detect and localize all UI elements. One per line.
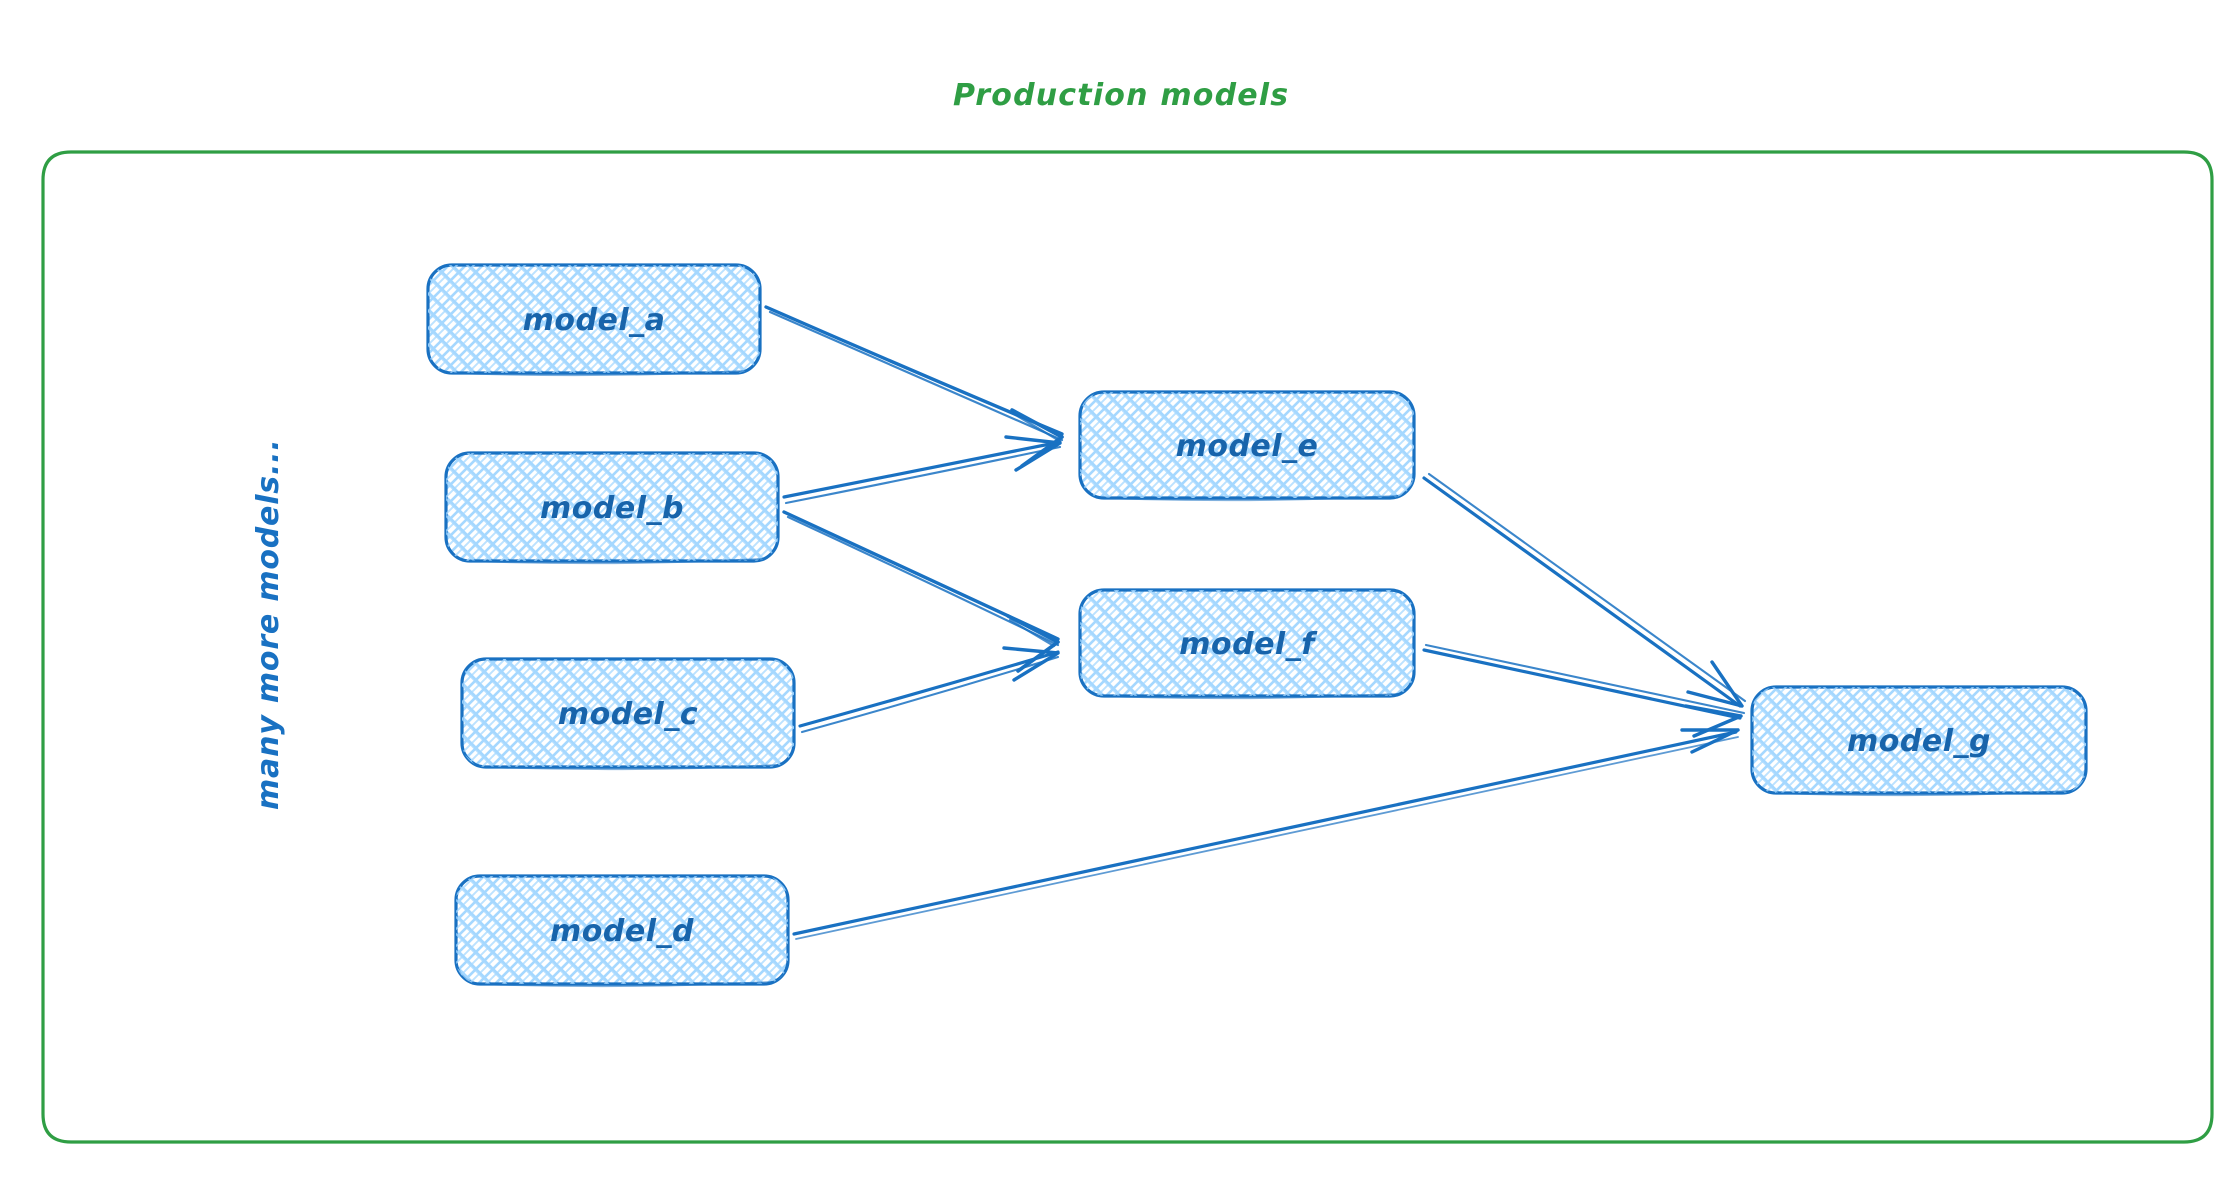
edge-model-e-to-model-g (1424, 474, 1745, 706)
edge-model-f-to-model-g (1424, 645, 1744, 736)
node-model-d-label: model_d (550, 914, 694, 949)
frame-title: Production models (953, 78, 1289, 113)
node-model-e[interactable]: model_e (1080, 392, 1414, 500)
nodes-group: model_a model_b model_c model (428, 265, 2086, 986)
node-model-f-label: model_f (1179, 627, 1318, 662)
edge-model-a-to-model-e (766, 307, 1062, 466)
node-model-g[interactable]: model_g (1752, 687, 2086, 795)
node-model-d[interactable]: model_d (456, 876, 788, 986)
diagram-svg: Production models many more models... (0, 0, 2240, 1188)
node-model-a-label: model_a (523, 303, 666, 338)
edge-model-b-to-model-e (784, 437, 1060, 503)
edge-model-b-to-model-f (784, 512, 1058, 671)
node-model-b[interactable]: model_b (446, 453, 778, 563)
node-model-a[interactable]: model_a (428, 265, 760, 375)
node-model-f[interactable]: model_f (1080, 590, 1414, 698)
node-model-c-label: model_c (558, 697, 698, 732)
node-model-b-label: model_b (540, 491, 684, 526)
annotation-group: many more models... (251, 438, 286, 810)
diagram-canvas: Production models many more models... (0, 0, 2240, 1188)
edge-model-d-to-model-g (794, 730, 1738, 939)
edge-model-c-to-model-f (800, 648, 1058, 732)
node-model-g-label: model_g (1847, 724, 1991, 759)
node-model-c[interactable]: model_c (462, 659, 794, 769)
node-model-e-label: model_e (1176, 429, 1319, 464)
annotation-many-more-models: many more models... (251, 438, 286, 810)
